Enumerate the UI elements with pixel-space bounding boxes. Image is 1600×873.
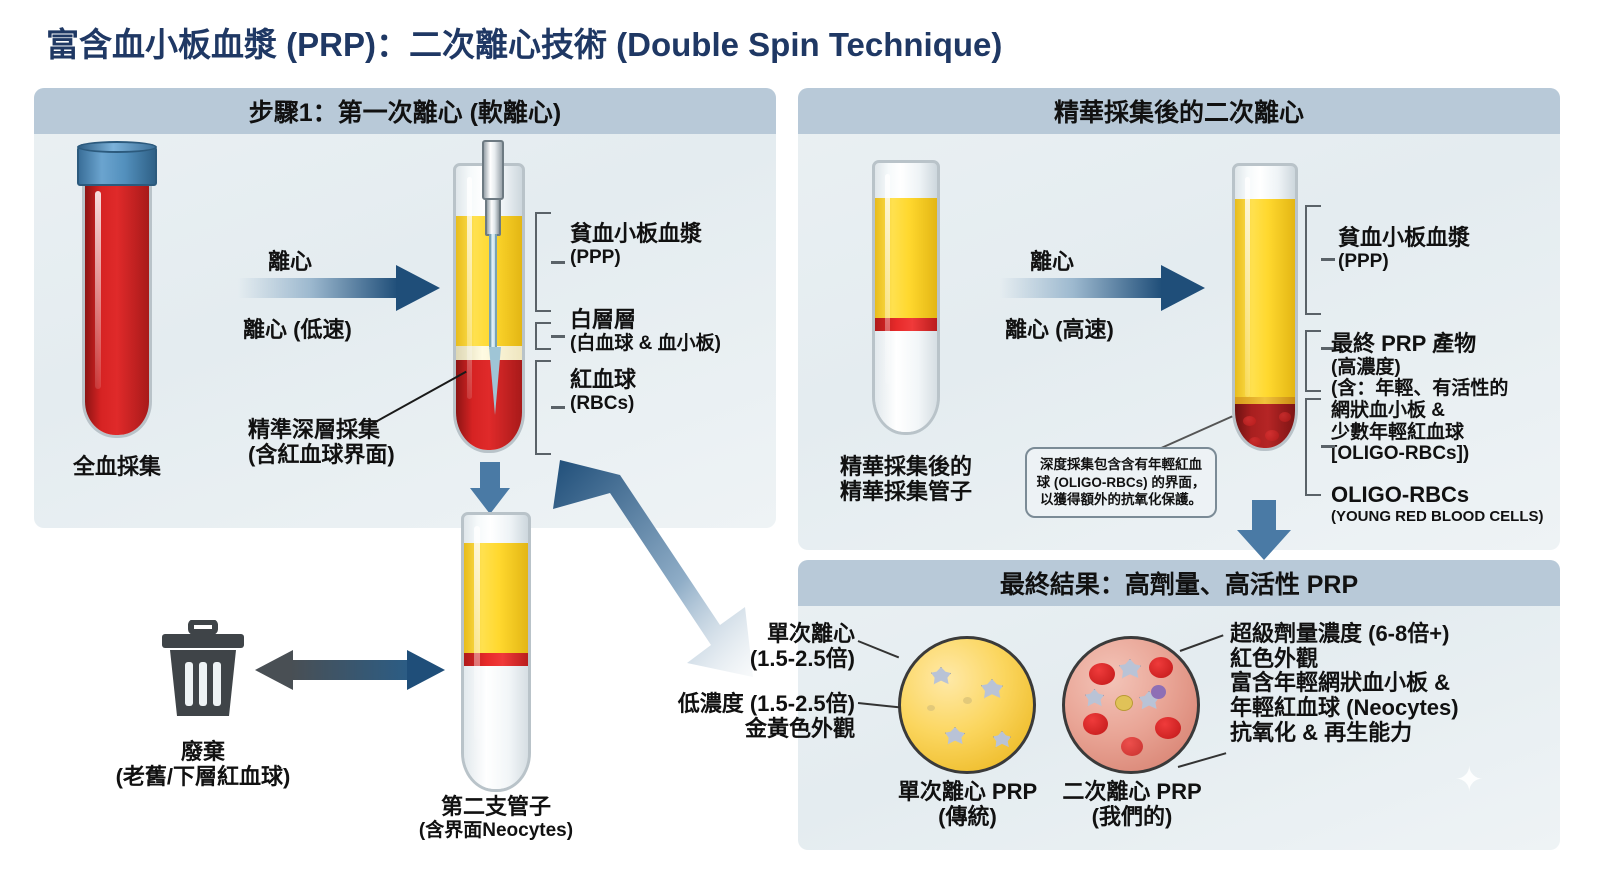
- tube-whole-blood: [82, 178, 152, 438]
- arrow-spin2-shaft: [1000, 278, 1162, 298]
- trash-icon: [158, 620, 248, 720]
- arrow-to-final-results: [1237, 500, 1291, 562]
- platelet: [1085, 689, 1104, 707]
- label-layer-rbc: 紅血球 (RBCs): [570, 368, 636, 414]
- label-whole-blood: 全血採集: [42, 455, 192, 480]
- label-essence-source-tube: 精華採集後的 精華採集管子: [806, 455, 1006, 504]
- circle-single-spin-prp: [898, 636, 1036, 774]
- label-spin1-top: 離心: [268, 250, 312, 275]
- bracket-final-ppp: [1305, 205, 1321, 315]
- label-final-oligo-name: OLIGO-RBCs: [1331, 483, 1544, 508]
- pipette-tip: [489, 234, 497, 349]
- tube-highlight: [1245, 177, 1250, 397]
- label-second-tube: 第二支管子 (含界面Neocytes): [371, 795, 621, 841]
- label-layer-ppp-sub: (PPP): [570, 247, 702, 269]
- label-precision-collect-l2: (含紅血球界面): [248, 443, 395, 468]
- label-double-spin-prp: 二次離心 PRP (我們的): [1042, 780, 1222, 829]
- tube-whole-blood-body: [82, 178, 152, 438]
- platelet: [993, 731, 1011, 748]
- page-title: 富含血小板血漿 (PRP)：二次離心技術 (Double Spin Techni…: [46, 18, 1002, 66]
- arrow-transfer-down-stem: [480, 462, 500, 490]
- panel-step2-header: 精華採集後的二次離心: [798, 88, 1560, 134]
- arrow-to-final-results-stem: [1252, 500, 1276, 532]
- arrow-transfer-down: [470, 462, 510, 514]
- tube-final-prp-body: [1232, 163, 1298, 451]
- bracket-ppp-tick: [551, 261, 565, 264]
- rbc-cell: [1121, 737, 1143, 756]
- label-final-left-low: 低濃度 (1.5-2.5倍) 金黃色外觀: [560, 692, 855, 741]
- label-final-right-dose-l4: 年輕紅血球 (Neocytes): [1230, 696, 1459, 721]
- bracket-buffy-tick: [551, 335, 565, 338]
- label-layer-buffy: 白層層 (白血球 & 血小板): [570, 308, 721, 354]
- label-layer-buffy-name: 白層層: [570, 308, 721, 333]
- label-spin2-top: 離心: [1030, 250, 1074, 275]
- arrow-waste-shaft: [291, 660, 411, 680]
- pipette: [470, 140, 518, 415]
- label-essence-source-l1: 精華採集後的: [806, 455, 1006, 480]
- tube-cap-top: [77, 141, 157, 153]
- infographic-root: 富含血小板血漿 (PRP)：二次離心技術 (Double Spin Techni…: [0, 0, 1600, 873]
- label-waste-name: 廢棄: [53, 740, 353, 765]
- label-layer-rbc-sub: (RBCs): [570, 393, 636, 415]
- tube-essence-source: [872, 160, 940, 435]
- label-waste-sub: (老舊/下層紅血球): [53, 765, 353, 790]
- arrow-waste-head-left: [255, 650, 293, 690]
- label-final-prp-sub1: (高濃度): [1331, 357, 1508, 379]
- label-second-tube-name: 第二支管子: [371, 795, 621, 820]
- label-precision-collect: 精準深層採集 (含紅血球界面): [248, 418, 395, 467]
- label-final-prp-sub3: 網狀血小板 &: [1331, 400, 1508, 422]
- arrow-waste-split: [255, 645, 445, 695]
- bracket-rbc-tick: [551, 406, 565, 409]
- label-final-ppp-name: 貧血小板血漿: [1338, 226, 1470, 251]
- label-layer-buffy-sub: (白血球 & 血小板): [570, 333, 721, 355]
- label-whole-blood-text: 全血採集: [42, 455, 192, 480]
- label-spin1-bottom: 離心 (低速): [243, 318, 352, 343]
- bracket-rbc: [535, 360, 551, 455]
- label-final-prp: 最終 PRP 產物 (高濃度) (含：年輕、有活性的 網狀血小板 & 少數年輕紅…: [1331, 332, 1508, 465]
- label-final-prp-sub2: (含：年輕、有活性的: [1331, 378, 1508, 400]
- callout-deep-collection: 深度採集包含含有年輕紅血球 (OLIGO-RBCs) 的界面，以獲得額外的抗氧化…: [1025, 447, 1217, 518]
- pipette-shoulder: [485, 198, 501, 236]
- arrow-spin2-head: [1161, 265, 1205, 311]
- label-final-right-dose: 超級劑量濃度 (6-8倍+) 紅色外觀 富含年輕網狀血小板 & 年輕紅血球 (N…: [1230, 622, 1459, 745]
- label-spin2-bottom-text: 離心 (高速): [1005, 318, 1114, 343]
- panel-step1-title: 步驟1：第一次離心 (軟離心): [249, 93, 562, 129]
- rbc-cell: [1149, 657, 1173, 678]
- tube-highlight: [474, 526, 480, 740]
- panel-step2-title: 精華採集後的二次離心: [1054, 93, 1304, 129]
- label-spin2-top-text: 離心: [1030, 250, 1074, 275]
- label-final-oligo: OLIGO-RBCs (YOUNG RED BLOOD CELLS): [1331, 483, 1544, 525]
- tube-essence-source-body: [872, 160, 940, 435]
- label-final-left-single-l1: 單次離心: [600, 622, 855, 647]
- rbc-cell: [1249, 437, 1261, 446]
- bracket-ppp: [535, 212, 551, 312]
- platelet: [945, 727, 965, 745]
- label-layer-ppp-name: 貧血小板血漿: [570, 222, 702, 247]
- label-spin1-bottom-text: 離心 (低速): [243, 318, 352, 343]
- bracket-final-ppp-tick: [1321, 258, 1335, 261]
- label-essence-source-l2: 精華採集管子: [806, 480, 1006, 505]
- label-precision-collect-l1: 精準深層採集: [248, 418, 395, 443]
- label-layer-ppp: 貧血小板血漿 (PPP): [570, 222, 702, 268]
- label-spin1-top-text: 離心: [268, 250, 312, 275]
- label-single-spin-prp: 單次離心 PRP (傳統): [880, 780, 1055, 829]
- tube-highlight: [95, 191, 101, 389]
- label-final-ppp-sub: (PPP): [1338, 251, 1470, 273]
- panel-final-title: 最終結果：高劑量、高活性 PRP: [1000, 565, 1358, 601]
- label-final-left-single: 單次離心 (1.5-2.5倍): [600, 622, 855, 671]
- tube-cap: [77, 144, 157, 186]
- rbc-cell: [1243, 416, 1256, 426]
- plasma-speck: [963, 697, 972, 704]
- tube-final-prp: [1232, 163, 1298, 451]
- trash-icon-svg: [158, 620, 248, 720]
- platelet: [981, 679, 1003, 699]
- label-final-prp-name: 最終 PRP 產物: [1331, 332, 1508, 357]
- tube-highlight: [885, 174, 891, 384]
- label-single-spin-prp-sub: (傳統): [880, 805, 1055, 830]
- layer-final-interface: [1235, 397, 1295, 404]
- label-final-right-dose-l5: 抗氧化 & 再生能力: [1230, 721, 1459, 746]
- label-waste: 廢棄 (老舊/下層紅血球): [53, 740, 353, 789]
- panel-final-header: 最終結果：高劑量、高活性 PRP: [798, 560, 1560, 606]
- label-second-tube-sub: (含界面Neocytes): [371, 820, 621, 842]
- rbc-cell: [1155, 717, 1181, 739]
- label-spin2-bottom: 離心 (高速): [1005, 318, 1114, 343]
- label-final-ppp: 貧血小板血漿 (PPP): [1338, 226, 1470, 272]
- label-single-spin-prp-name: 單次離心 PRP: [880, 780, 1055, 805]
- rbc-cell: [1083, 713, 1108, 735]
- label-double-spin-prp-name: 二次離心 PRP: [1042, 780, 1222, 805]
- layer-final-oligo-rbc: [1235, 404, 1295, 448]
- bracket-buffy: [535, 322, 551, 350]
- pipette-barrel: [482, 140, 504, 200]
- label-final-left-low-l1: 低濃度 (1.5-2.5倍): [560, 692, 855, 717]
- leukocyte: [1151, 685, 1166, 699]
- pipette-tip-point: [489, 347, 501, 415]
- platelet: [931, 667, 951, 685]
- arrow-spin1-shaft: [238, 278, 398, 298]
- rbc-cell: [1279, 412, 1291, 422]
- bracket-final-oligo: [1305, 398, 1321, 496]
- tube-second-body: [461, 512, 531, 792]
- tube-second: [461, 512, 531, 792]
- plasma-speck: [927, 705, 935, 711]
- label-final-prp-sub5: [OLIGO-RBCs]): [1331, 443, 1508, 465]
- label-double-spin-prp-sub: (我們的): [1042, 805, 1222, 830]
- label-final-prp-sub4: 少數年輕紅血球: [1331, 422, 1508, 444]
- label-final-left-low-l2: 金黃色外觀: [560, 717, 855, 742]
- panel-step1-header: 步驟1：第一次離心 (軟離心): [34, 88, 776, 134]
- bracket-final-oligo-tick: [1321, 445, 1335, 448]
- label-final-right-dose-l3: 富含年輕網狀血小板 &: [1230, 671, 1459, 696]
- arrow-transfer-down-head: [470, 488, 510, 514]
- label-layer-rbc-name: 紅血球: [570, 368, 636, 393]
- label-final-oligo-sub: (YOUNG RED BLOOD CELLS): [1331, 508, 1544, 526]
- arrow-spin1-head: [396, 265, 440, 311]
- circle-double-spin-prp: [1062, 636, 1200, 774]
- label-final-left-single-l2: (1.5-2.5倍): [600, 647, 855, 672]
- callout-deep-collection-text: 深度採集包含含有年輕紅血球 (OLIGO-RBCs) 的界面，以獲得額外的抗氧化…: [1037, 457, 1206, 507]
- rbc-cell: [1265, 430, 1279, 441]
- arrow-to-final-results-head: [1237, 530, 1291, 560]
- label-final-right-dose-l2: 紅色外觀: [1230, 647, 1459, 672]
- label-final-right-dose-l1: 超級劑量濃度 (6-8倍+): [1230, 622, 1459, 647]
- rbc-cell: [1089, 663, 1115, 685]
- bracket-final-prp: [1305, 330, 1321, 392]
- arrow-waste-head-right: [407, 650, 445, 690]
- platelet: [1119, 659, 1141, 679]
- sparkle-icon: ✦: [1455, 760, 1484, 800]
- leukocyte: [1115, 695, 1133, 711]
